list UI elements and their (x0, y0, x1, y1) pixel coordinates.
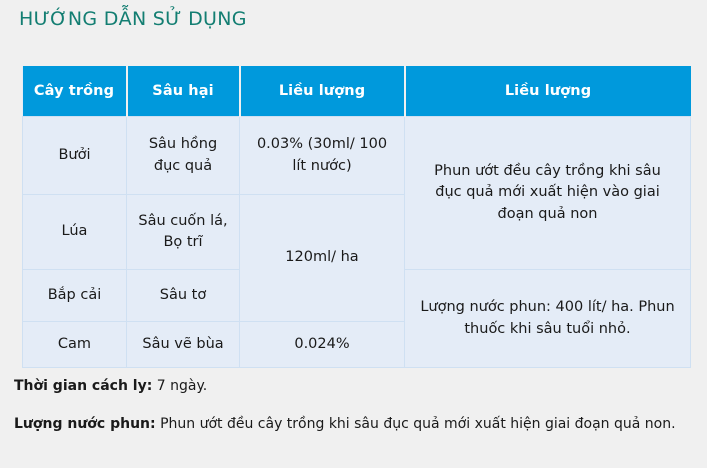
note-isolation-period: Thời gian cách ly: 7 ngày. (14, 376, 694, 398)
table-header-row: Cây trồng Sâu hại Liều lượng Liều lượng (23, 66, 691, 117)
cell-note-top: Phun ướt đều cây trồng khi sâu đục quả m… (405, 117, 691, 270)
table-body: Bưởi Sâu hồng đục quả 0.03% (30ml/ 100 l… (23, 117, 691, 368)
note-water-label: Lượng nước phun: (14, 416, 156, 432)
cell-pest-buoi: Sâu hồng đục quả (127, 117, 240, 195)
usage-guide-table: Cây trồng Sâu hại Liều lượng Liều lượng … (22, 66, 691, 368)
cell-crop-buoi: Bưởi (23, 117, 127, 195)
note-isolation-label: Thời gian cách ly: (14, 378, 152, 394)
column-header-crop: Cây trồng (23, 66, 127, 117)
column-header-dose: Liều lượng (240, 66, 405, 117)
cell-crop-cam: Cam (23, 322, 127, 368)
cell-dose-shared: 120ml/ ha (240, 195, 405, 322)
notes-section: Thời gian cách ly: 7 ngày. Lượng nước ph… (14, 376, 694, 435)
page-title: HƯỚNG DẪN SỬ DỤNG (19, 8, 247, 30)
cell-crop-lua: Lúa (23, 195, 127, 270)
cell-dose-cam: 0.024% (240, 322, 405, 368)
table-header: Cây trồng Sâu hại Liều lượng Liều lượng (23, 66, 691, 117)
cell-pest-cam: Sâu vẽ bùa (127, 322, 240, 368)
cell-pest-lua: Sâu cuốn lá, Bọ trĩ (127, 195, 240, 270)
cell-dose-buoi: 0.03% (30ml/ 100 lít nước) (240, 117, 405, 195)
note-isolation-value: 7 ngày. (152, 378, 207, 394)
usage-guide-table-container: Cây trồng Sâu hại Liều lượng Liều lượng … (22, 66, 690, 368)
note-water-volume: Lượng nước phun: Phun ướt đều cây trồng … (14, 414, 694, 436)
cell-pest-bapcai: Sâu tơ (127, 270, 240, 322)
table-row: Bưởi Sâu hồng đục quả 0.03% (30ml/ 100 l… (23, 117, 691, 195)
column-header-note: Liều lượng (405, 66, 691, 117)
cell-note-bottom: Lượng nước phun: 400 lít/ ha. Phun thuốc… (405, 270, 691, 368)
column-header-pest: Sâu hại (127, 66, 240, 117)
guide-page: HƯỚNG DẪN SỬ DỤNG Cây trồng Sâu hại Liều… (0, 0, 707, 468)
note-water-value: Phun ướt đều cây trồng khi sâu đục quả m… (156, 416, 676, 432)
cell-crop-bapcai: Bắp cải (23, 270, 127, 322)
